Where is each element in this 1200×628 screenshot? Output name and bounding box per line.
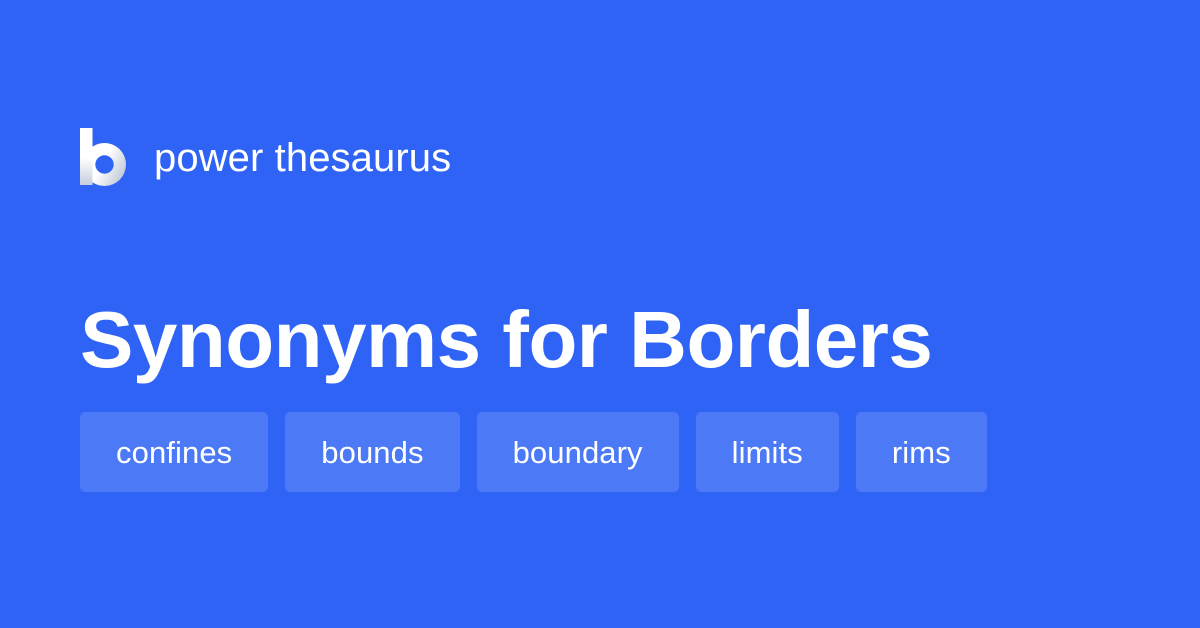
- synonym-chip-label: bounds: [321, 437, 423, 468]
- synonym-chip[interactable]: limits: [696, 412, 839, 492]
- synonym-chip-label: confines: [116, 437, 232, 468]
- brand-lockup[interactable]: power thesaurus: [80, 126, 451, 188]
- share-card: power thesaurus Synonyms for Borders con…: [0, 0, 1200, 628]
- synonym-chip[interactable]: bounds: [285, 412, 459, 492]
- synonym-chip-label: boundary: [513, 437, 643, 468]
- synonym-chip-label: rims: [892, 437, 951, 468]
- page-title: Synonyms for Borders: [80, 300, 1120, 380]
- synonym-chip-label: limits: [732, 437, 803, 468]
- brand-wordmark: power thesaurus: [154, 138, 451, 178]
- synonym-chip-list: confines bounds boundary limits rims: [80, 412, 987, 492]
- synonym-chip[interactable]: confines: [80, 412, 268, 492]
- synonym-chip[interactable]: boundary: [477, 412, 679, 492]
- synonym-chip[interactable]: rims: [856, 412, 987, 492]
- power-thesaurus-b-logo-icon: [80, 128, 126, 186]
